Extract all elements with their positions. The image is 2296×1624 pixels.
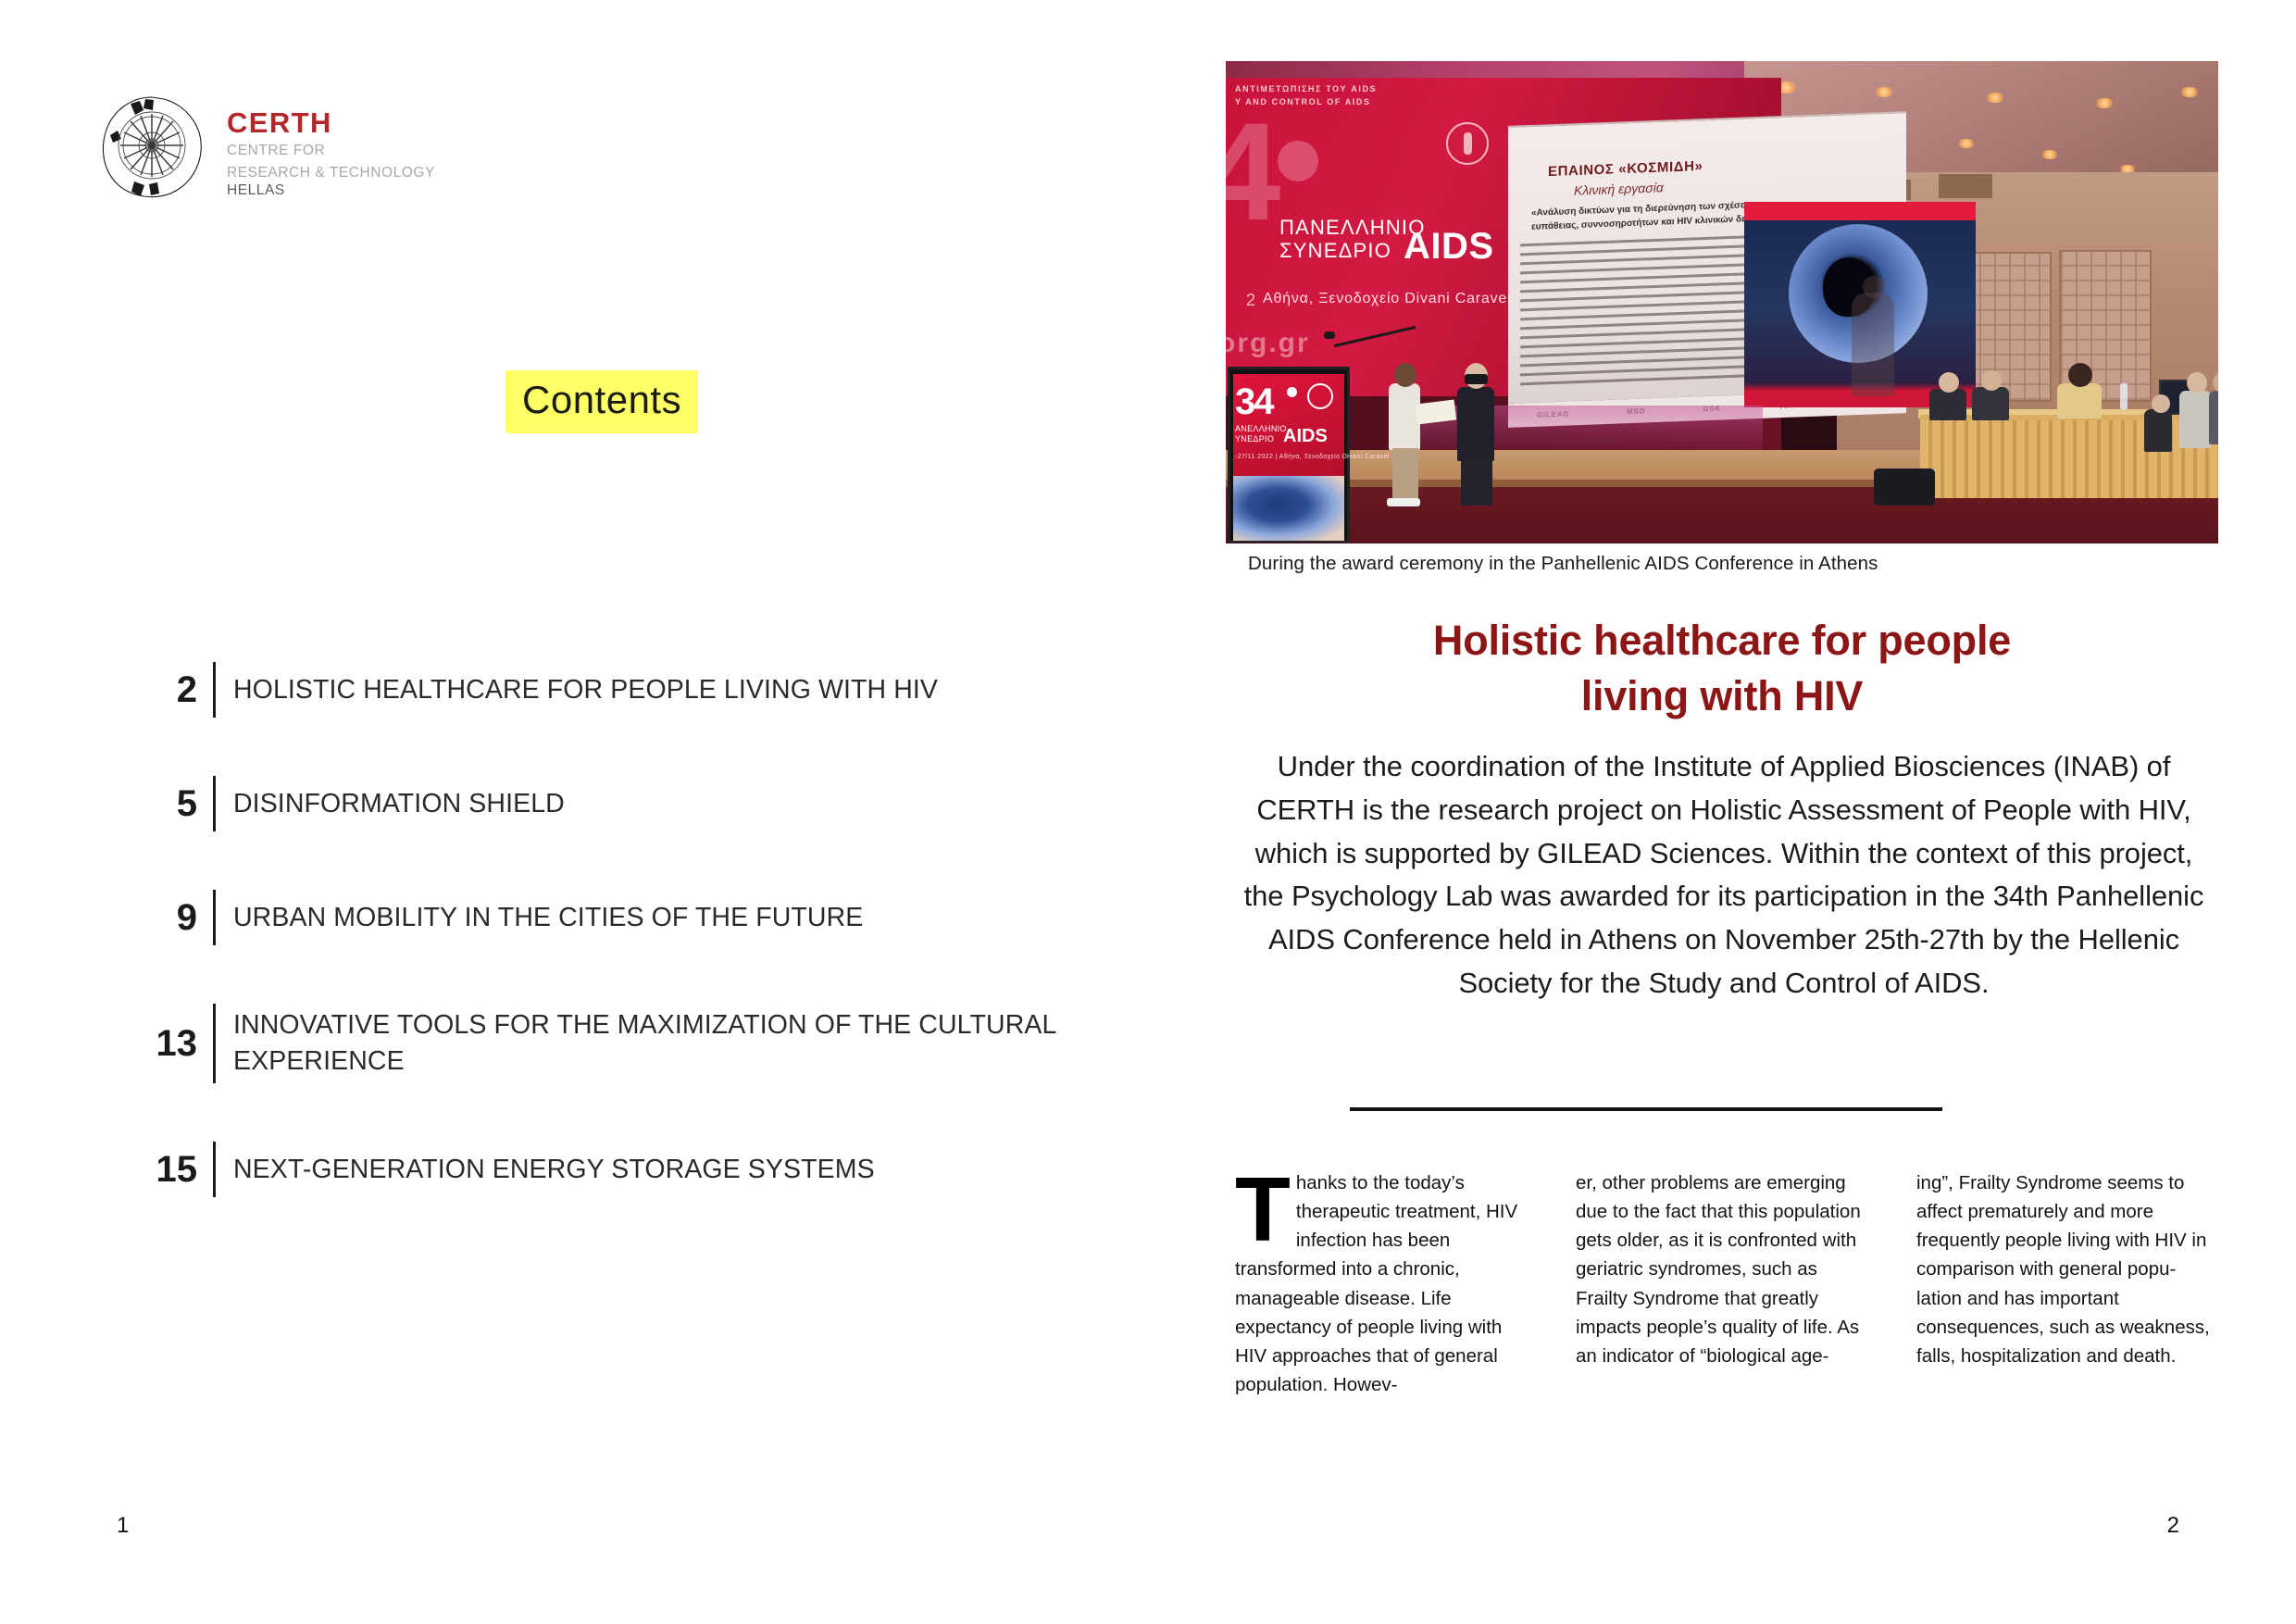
toc-entry[interactable]: 15 NEXT-GENERATION ENERGY STORAGE SYSTEM… (141, 1142, 1076, 1197)
article-title-line2: living with HIV (1237, 668, 2207, 724)
presenter-silhouette (1852, 293, 1894, 396)
bag (1874, 468, 1935, 506)
banner-ribbon-logo-icon (1446, 122, 1489, 165)
certh-tagline-line1: CENTRE FOR (227, 143, 435, 159)
ceiling-light-icon (1957, 139, 1976, 148)
toc-entry-title: DISINFORMATION SHIELD (216, 786, 565, 822)
person-attendee-head (2187, 372, 2207, 394)
magazine-spread: CERTH CENTRE FOR RESEARCH & TECHNOLOGY H… (0, 0, 2296, 1624)
banner-edition-number: 4 (1226, 115, 1275, 229)
photo-caption: During the award ceremony in the Panhell… (1248, 553, 1878, 575)
head-table-skirt (1920, 415, 2218, 498)
certh-logo-text: CERTH CENTRE FOR RESEARCH & TECHNOLOGY H… (227, 93, 435, 199)
toc-entry-title: INNOVATIVE TOOLS FOR THE MAXIMIZATION OF… (216, 1007, 1076, 1080)
person-presenter-legs (1461, 459, 1492, 506)
article-title: Holistic healthcare for people living wi… (1237, 613, 2207, 725)
toc-entry-title: HOLISTIC HEALTHCARE FOR PEOPLE LIVING WI… (216, 672, 938, 708)
podium-edition-number: 34 (1235, 381, 1273, 423)
person-panel-head (1981, 370, 2002, 391)
podium-ribbon-logo-icon (1307, 383, 1333, 409)
person-attendee-torso (2144, 409, 2172, 452)
presenter-silhouette-head (1863, 276, 1885, 298)
certh-tagline-line3: HELLAS (227, 182, 435, 199)
article-body-columns: Thanks to the to­day’s therapeutic treat… (1235, 1168, 2216, 1399)
certh-wordmark: CERTH (227, 108, 435, 137)
contents-heading: Contents (505, 370, 698, 433)
wall-panel (1963, 252, 2052, 402)
ceiling-light-icon (2179, 87, 2200, 97)
article-lead-paragraph: Under the coordination of the Institute … (1237, 745, 2211, 1006)
person-panel-head (2068, 363, 2092, 387)
person-panel-torso (1929, 389, 1966, 420)
toc-entry-title: NEXT-GENERATION ENERGY STORAGE SYSTEMS (216, 1152, 875, 1188)
toc-entry[interactable]: 13 INNOVATIVE TOOLS FOR THE MAXIMIZATION… (141, 1004, 1076, 1083)
article-title-line1: Holistic healthcare for people (1237, 613, 2207, 668)
water-bottle (2120, 383, 2128, 409)
banner-year: 2 (1246, 291, 1255, 310)
page-number-right: 2 (2167, 1513, 2179, 1539)
toc-entry[interactable]: 5 DISINFORMATION SHIELD (141, 776, 1076, 831)
person-presenter-mask-icon (1465, 374, 1488, 384)
toc-entry[interactable]: 9 URBAN MOBILITY IN THE CITIES OF THE FU… (141, 890, 1076, 945)
air-vent-icon (1939, 174, 1992, 198)
certh-logo: CERTH CENTRE FOR RESEARCH & TECHNOLOGY H… (97, 93, 435, 202)
toc-page-number: 15 (141, 1150, 213, 1189)
podium-congress-text: ΑΝΕΛΛΗΝΙΟΥΝΕΔΡΙΟ (1235, 424, 1287, 445)
conference-photo: ΑΝΤΙΜΕΤΩΠΙΣΗΣ ΤΟΥ AIDSY AND CONTROL OF A… (1226, 61, 2218, 543)
left-page: CERTH CENTRE FOR RESEARCH & TECHNOLOGY H… (0, 0, 1148, 1624)
person-recipient-head (1394, 363, 1416, 387)
person-recipient-legs (1392, 448, 1418, 502)
person-attendee-torso (2209, 391, 2218, 444)
banner-location: Αθήνα, Ξενοδοχείο Divani Caravel (1263, 291, 1511, 307)
podium-dates: -27/11 2022 | Αθήνα, Ξενοδοχείο Divani C… (1235, 454, 1390, 460)
toc-entry[interactable]: 2 HOLISTIC HEALTHCARE FOR PEOPLE LIVING … (141, 662, 1076, 718)
right-page: ΑΝΤΙΜΕΤΩΠΙΣΗΣ ΤΟΥ AIDSY AND CONTROL OF A… (1148, 0, 2296, 1624)
article-column-1: Thanks to the to­day’s therapeutic treat… (1235, 1168, 1533, 1399)
person-panel-torso (2057, 383, 2102, 418)
article-divider-rule (1350, 1107, 1942, 1111)
ceiling-light-icon (1874, 87, 1894, 97)
certh-tagline-line2: RESEARCH & TECHNOLOGY (227, 165, 435, 181)
ceiling-light-icon (2040, 150, 2059, 159)
microphone-head-icon (1324, 331, 1335, 339)
person-recipient-shoes (1387, 498, 1420, 506)
podium-eye-image (1233, 476, 1344, 541)
article-dropcap: T (1235, 1176, 1291, 1243)
banner-url: org.gr (1226, 328, 1310, 359)
person-attendee-torso (2179, 391, 2211, 448)
article-column-2: er, other problems are emerging due to t… (1576, 1168, 1874, 1399)
ceiling-light-icon (1985, 93, 2005, 103)
table-of-contents: 2 HOLISTIC HEALTHCARE FOR PEOPLE LIVING … (141, 662, 1076, 1197)
toc-entry-title: URBAN MOBILITY IN THE CITIES OF THE FUTU… (216, 900, 863, 936)
toc-page-number: 5 (141, 784, 213, 823)
person-attendee-head (2152, 394, 2170, 413)
banner-degree-dot (1278, 141, 1318, 181)
podium-aids-word: AIDS (1283, 426, 1328, 447)
person-recipient-torso (1389, 383, 1420, 450)
person-panel-head (1939, 372, 1959, 393)
banner-aids-word: AIDS (1404, 226, 1494, 268)
page-number-left: 1 (117, 1513, 129, 1539)
article-column-3: ing”, Frailty Syndrome seems to affect p… (1916, 1168, 2215, 1399)
podium-degree-dot (1287, 387, 1297, 397)
person-presenter-torso (1457, 387, 1494, 461)
toc-page-number: 13 (141, 1024, 213, 1063)
person-panel-torso (1972, 387, 2009, 420)
certh-rosette-icon (97, 93, 206, 202)
toc-page-number: 9 (141, 898, 213, 937)
ceiling-light-icon (2094, 98, 2115, 108)
toc-page-number: 2 (141, 670, 213, 709)
